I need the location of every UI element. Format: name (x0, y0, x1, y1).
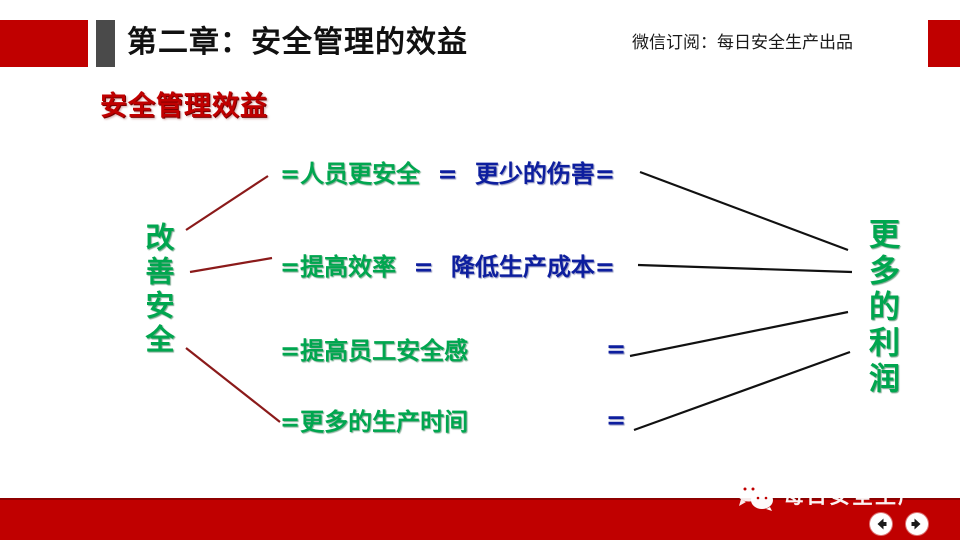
black-connector-group (630, 172, 852, 430)
header-gray-accent-bar (96, 20, 115, 67)
arrow-left-icon (870, 513, 892, 535)
row-2-effect: 降低生产成本= (451, 253, 615, 281)
diagram-source-label: 改善安全 (140, 222, 176, 358)
diagram-row-2: =提高效率 = 降低生产成本= (280, 251, 615, 283)
row-3-cause: =提高员工安全感 (280, 337, 468, 365)
row-1-equals: = (437, 160, 457, 188)
black-connector-2 (638, 265, 852, 272)
black-connector-4 (634, 352, 850, 430)
red-connector-2 (190, 258, 272, 272)
next-slide-button[interactable] (906, 513, 928, 535)
red-connector-3 (186, 348, 280, 422)
header-red-block-left (0, 20, 88, 67)
row-1-effect: 更少的伤害= (475, 160, 615, 188)
wechat-logo-icon (733, 479, 777, 511)
black-connector-3 (630, 312, 848, 356)
row-1-cause: =人员更安全 (280, 160, 420, 188)
row-2-equals: = (413, 253, 433, 281)
diagram-outcome-label: 更多的利润 (862, 218, 900, 398)
row-2-cause: =提高效率 (280, 253, 396, 281)
black-connector-1 (640, 172, 848, 250)
red-connector-1 (186, 176, 268, 230)
diagram-row-4: =更多的生产时间 (280, 406, 468, 438)
section-heading: 安全管理效益 (100, 84, 268, 123)
row-4-cause: =更多的生产时间 (280, 408, 468, 436)
prev-slide-button[interactable] (870, 513, 892, 535)
page-title: 第二章：安全管理的效益 (127, 22, 468, 64)
arrow-right-icon (906, 513, 928, 535)
diagram-row-3: =提高员工安全感 (280, 335, 468, 367)
row-3-trailing-equals: = (606, 335, 626, 363)
footer-brand-label: 每日安全生产 (783, 482, 921, 510)
slide-canvas: 第二章：安全管理的效益 微信订阅：每日安全生产出品 安全管理效益 改善安全 =人… (0, 0, 960, 540)
subscription-note: 微信订阅：每日安全生产出品 (632, 31, 853, 55)
diagram-row-1: =人员更安全 = 更少的伤害= (280, 158, 615, 190)
header-red-block-right (928, 20, 960, 67)
red-connector-group (186, 176, 280, 422)
row-4-trailing-equals: = (606, 406, 626, 434)
